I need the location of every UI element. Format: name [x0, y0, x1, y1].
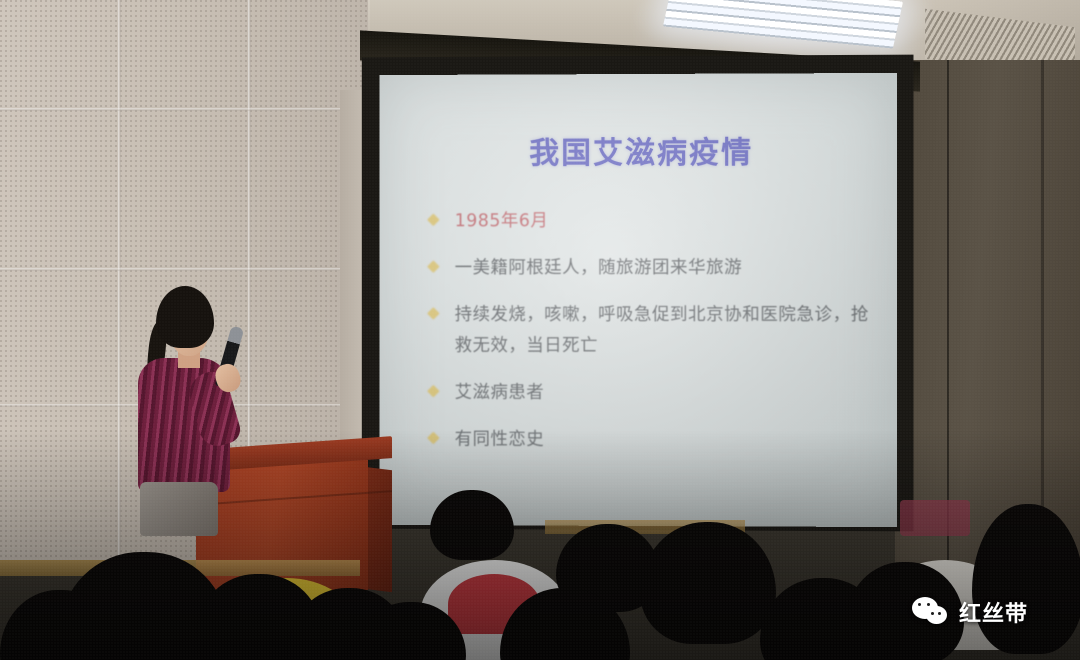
lecture-photo: 我国艾滋病疫情 1985年6月 一美籍阿根廷人，随旅游团来华旅游 持续发烧，咳嗽… — [0, 0, 1080, 660]
audience-head — [430, 490, 514, 560]
wechat-bubble-small — [926, 606, 947, 624]
bullet-diamond-icon — [427, 385, 440, 398]
presenter-hair — [156, 286, 214, 348]
slide-bullet-text: 持续发烧，咳嗽，呼吸急促到北京协和医院急诊，抢救无效，当日死亡 — [455, 305, 869, 356]
audience-head — [640, 522, 776, 644]
bullet-diamond-icon — [427, 213, 440, 226]
bullet-diamond-icon — [427, 307, 440, 320]
slide-bullet: 艾滋病患者 — [427, 378, 873, 410]
audience-head — [972, 504, 1080, 654]
wechat-watermark: 红丝带 — [912, 596, 1028, 628]
slide-bullet: 持续发烧，咳嗽，呼吸急促到北京协和医院急诊，抢救无效，当日死亡 — [427, 300, 871, 362]
slide-bullet: 一美籍阿根廷人，随旅游团来华旅游 — [427, 253, 873, 284]
slide-bullet: 1985年6月 — [427, 206, 873, 238]
slide-bullet-text: 1985年6月 — [455, 211, 549, 231]
wechat-icon — [912, 597, 950, 627]
wall-seam — [0, 108, 368, 111]
watermark-account-name: 红丝带 — [959, 596, 1028, 628]
slide-bullet-list: 1985年6月 一美籍阿根廷人，随旅游团来华旅游 持续发烧，咳嗽，呼吸急促到北京… — [427, 206, 873, 457]
wall-seam — [0, 268, 368, 271]
slide-title: 我国艾滋病疫情 — [411, 127, 873, 172]
slide-bullet-text: 一美籍阿根廷人，随旅游团来华旅游 — [455, 258, 742, 278]
bullet-diamond-icon — [427, 260, 440, 273]
slide-bullet-text: 艾滋病患者 — [455, 383, 545, 403]
